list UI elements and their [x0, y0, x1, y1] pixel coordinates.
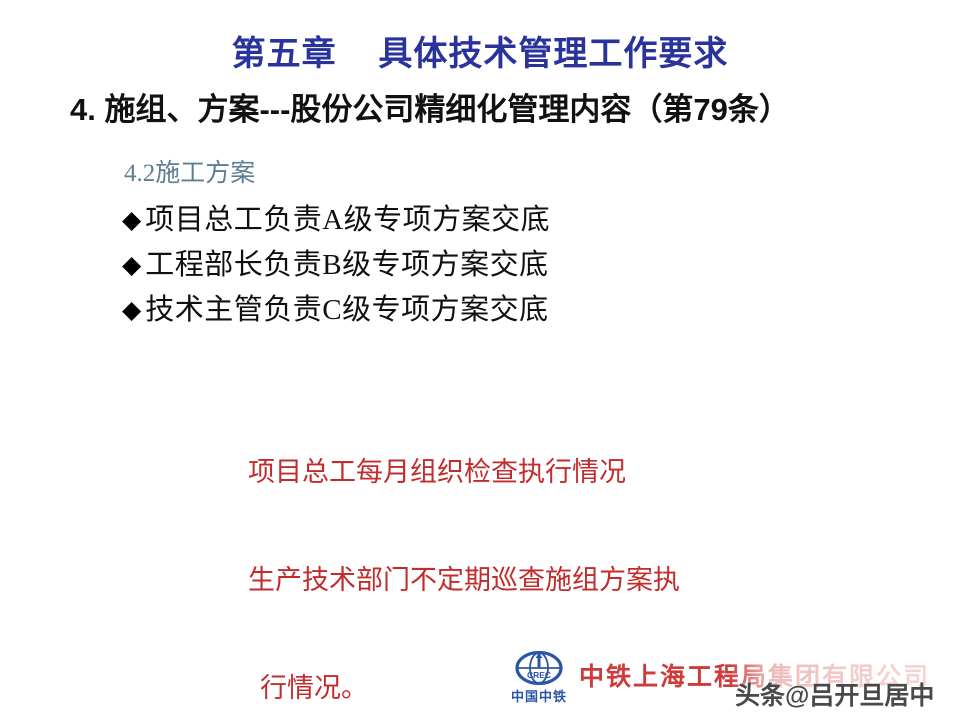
list-item-label: 项目总工负责A级专项方案交底: [145, 196, 550, 238]
note-line: 生产技术部门不定期巡查施组方案执: [248, 562, 680, 598]
diamond-bullet-icon: ◆: [122, 253, 141, 278]
diamond-bullet-icon: ◆: [122, 208, 141, 233]
list-item: ◆ 工程部长负责B级专项方案交底: [122, 241, 550, 286]
list-item-label: 技术主管负责C级专项方案交底: [145, 286, 548, 328]
crec-globe-icon: CREC: [515, 651, 563, 685]
section-heading: 4. 施组、方案---股份公司精细化管理内容（第79条）: [70, 84, 790, 129]
logo-mark: CREC 中国中铁: [503, 651, 575, 705]
watermark: 头条@吕开旦居中: [735, 676, 934, 712]
note-line: 项目总工每月组织检查执行情况: [248, 454, 680, 490]
logo-caption: 中国中铁: [511, 686, 567, 705]
slide-canvas: 第五章 具体技术管理工作要求 4. 施组、方案---股份公司精细化管理内容（第7…: [0, 0, 960, 720]
chapter-title: 第五章 具体技术管理工作要求: [0, 26, 960, 75]
sub-heading-4-2: 4.2施工方案: [124, 153, 255, 189]
list-item: ◆ 项目总工负责A级专项方案交底: [122, 196, 550, 241]
list-item: ◆ 技术主管负责C级专项方案交底: [122, 286, 550, 331]
list-item-label: 工程部长负责B级专项方案交底: [145, 241, 548, 283]
crec-logo-text: CREC: [527, 670, 551, 680]
diamond-bullet-icon: ◆: [122, 298, 141, 323]
bullet-list: ◆ 项目总工负责A级专项方案交底 ◆ 工程部长负责B级专项方案交底 ◆ 技术主管…: [122, 196, 550, 331]
